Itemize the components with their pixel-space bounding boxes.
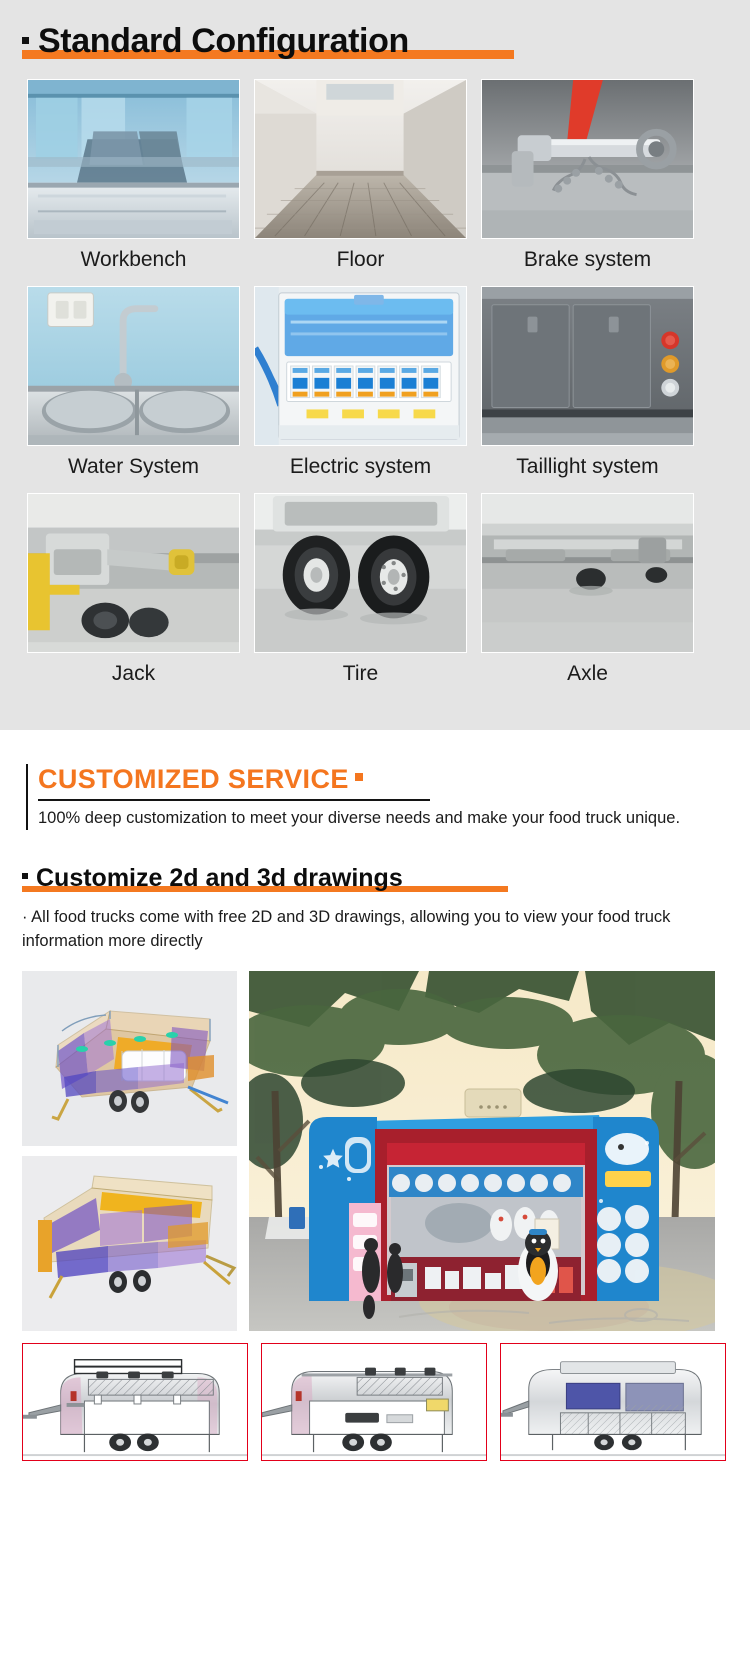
customized-service-section: CUSTOMIZED SERVICE 100% deep customizati…	[0, 730, 750, 1461]
config-item-label: Workbench	[27, 239, 240, 286]
bullet-square-orange-icon	[355, 773, 363, 781]
standard-configuration-heading: Standard Configuration	[22, 22, 409, 61]
config-item-workbench[interactable]: Workbench	[27, 79, 240, 286]
config-item-brake-system[interactable]: Brake system	[481, 79, 694, 286]
taillight-system-photo	[481, 286, 694, 446]
food-kiosk-photo[interactable]	[249, 971, 715, 1331]
tire-photo	[254, 493, 467, 653]
config-item-label: Axle	[481, 653, 694, 700]
customize-drawings-heading-text: Customize 2d and 3d drawings	[36, 864, 403, 892]
config-item-taillight-system[interactable]: Taillight system	[481, 286, 694, 493]
axle-photo	[481, 493, 694, 653]
config-item-label: Floor	[254, 239, 467, 286]
cad-drawing-side-elevation-1[interactable]	[22, 1343, 248, 1461]
config-item-label: Taillight system	[481, 446, 694, 493]
cad-drawing-side-elevation-3[interactable]	[500, 1343, 726, 1461]
customize-drawings-heading-wrap: Customize 2d and 3d drawings	[22, 864, 403, 893]
jack-photo	[27, 493, 240, 653]
drawings-bottom-row	[22, 1343, 728, 1461]
standard-configuration-grid: Workbench	[0, 61, 750, 700]
cad-drawing-side-elevation-2[interactable]	[261, 1343, 487, 1461]
config-item-floor[interactable]: Floor	[254, 79, 467, 286]
config-item-water-system[interactable]: Water System	[27, 286, 240, 493]
floor-photo	[254, 79, 467, 239]
customize-drawings-heading: Customize 2d and 3d drawings	[22, 864, 403, 893]
bullet-square-icon	[22, 873, 28, 879]
config-item-label: Electric system	[254, 446, 467, 493]
customized-service-body: 100% deep customization to meet your div…	[38, 801, 688, 830]
3d-render-trailer-side-view[interactable]	[22, 1156, 237, 1331]
drawings-gallery	[22, 971, 728, 1461]
standard-configuration-heading-wrap: Standard Configuration	[0, 0, 409, 61]
customized-service-heading: CUSTOMIZED SERVICE	[38, 764, 363, 798]
config-item-label: Tire	[254, 653, 467, 700]
config-item-axle[interactable]: Axle	[481, 493, 694, 700]
drawings-top-row	[22, 971, 728, 1331]
standard-configuration-section: Standard Configuration	[0, 0, 750, 730]
bullet-square-icon	[22, 37, 29, 44]
config-item-label: Brake system	[481, 239, 694, 286]
render-column	[22, 971, 237, 1331]
config-item-label: Water System	[27, 446, 240, 493]
electric-system-photo	[254, 286, 467, 446]
customized-service-heading-block: CUSTOMIZED SERVICE 100% deep customizati…	[26, 764, 686, 830]
workbench-photo	[27, 79, 240, 239]
config-item-electric-system[interactable]: Electric system	[254, 286, 467, 493]
standard-configuration-heading-text: Standard Configuration	[38, 22, 409, 60]
config-item-label: Jack	[27, 653, 240, 700]
customize-drawings-body: · All food trucks come with free 2D and …	[22, 905, 712, 953]
config-item-jack[interactable]: Jack	[27, 493, 240, 700]
brake-system-photo	[481, 79, 694, 239]
water-system-photo	[27, 286, 240, 446]
customized-service-heading-text: CUSTOMIZED SERVICE	[38, 764, 349, 794]
3d-render-trailer-top-view[interactable]	[22, 971, 237, 1146]
config-item-tire[interactable]: Tire	[254, 493, 467, 700]
